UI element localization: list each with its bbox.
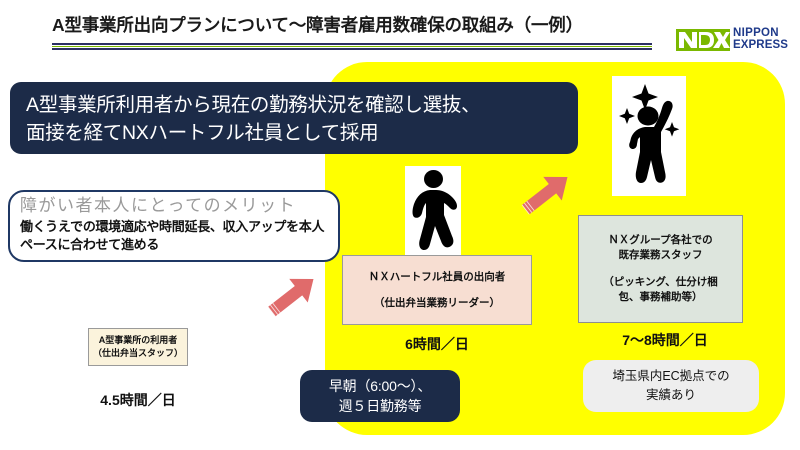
record-note-line-1: 埼玉県内EC拠点での xyxy=(612,367,729,386)
merit-body-line-1: 働くうえでの環境適応や時間延長、収入アップを本人 xyxy=(20,218,330,236)
stage3-line-4: 包、事務補助等） xyxy=(603,290,717,305)
stage1-line-2: （仕出弁当スタッフ） xyxy=(93,347,183,360)
banner-line-1: A型事業所利用者から現在の勤務状況を確認し選抜、 xyxy=(26,91,562,119)
arrow-stage1-to-stage2-icon xyxy=(262,272,324,323)
stage3-group-2: （ピッキング、仕分け梱 包、事務補助等） xyxy=(603,275,717,305)
stage1-label-box: A型事業所の利用者 （仕出弁当スタッフ） xyxy=(88,328,188,366)
stage1-line-1: A型事業所の利用者 xyxy=(99,334,178,347)
logo-line-express: EXPRESS xyxy=(733,40,788,52)
stage3-hours: 7～8時間／日 xyxy=(610,330,720,350)
merit-box: 障がい者本人にとってのメリット 働くうえでの環境適応や時間延長、収入アップを本人… xyxy=(8,190,340,262)
stage3-line-3: （ピッキング、仕分け梱 xyxy=(603,275,717,290)
schedule-note-line-2: 週５日勤務等 xyxy=(339,396,422,416)
stage2-label-box: ＮＸハートフル社員の出向者 （仕出弁当業務リーダー） xyxy=(342,255,532,325)
slide-canvas: A型事業所出向プランについて～障害者雇用数確保の取組み（一例） NIPPON E… xyxy=(0,0,800,450)
divider-line-navy-bottom xyxy=(52,48,652,50)
walking-person-icon xyxy=(405,166,461,260)
stage1-hours: 4.5時間／日 xyxy=(88,390,188,410)
stage3-group-1: ＮＸグループ各社での 既存業務スタッフ xyxy=(608,233,712,263)
arrow-stage2-to-stage3-icon xyxy=(516,170,578,221)
merit-heading: 障がい者本人にとってのメリット xyxy=(20,195,330,217)
nippon-express-logo: NIPPON EXPRESS xyxy=(676,28,788,51)
banner-line-2: 面接を経てNXハートフル社員として採用 xyxy=(26,119,562,147)
stage2-hours: 6時間／日 xyxy=(392,334,482,354)
celebrating-person-icon xyxy=(612,76,686,196)
stage3-line-1: ＮＸグループ各社での xyxy=(608,233,712,248)
logo-wordmark: NIPPON EXPRESS xyxy=(733,28,788,51)
record-note-pill: 埼玉県内EC拠点での 実績あり xyxy=(583,360,759,412)
page-title: A型事業所出向プランについて～障害者雇用数確保の取組み（一例） xyxy=(52,12,583,37)
merit-body: 働くうえでの環境適応や時間延長、収入アップを本人 ペースに合わせて進める xyxy=(20,218,330,253)
stage2-line-2: （仕出弁当業務リーダー） xyxy=(374,295,500,312)
header-divider xyxy=(52,43,652,50)
nx-logo-mark-icon xyxy=(676,29,730,51)
banner-callout: A型事業所利用者から現在の勤務状況を確認し選抜、 面接を経てNXハートフル社員と… xyxy=(10,82,578,154)
schedule-note-pill: 早朝（6:00～）、 週５日勤務等 xyxy=(300,370,460,422)
schedule-note-line-1: 早朝（6:00～）、 xyxy=(329,376,431,396)
merit-body-line-2: ペースに合わせて進める xyxy=(20,236,330,254)
stage3-label-box: ＮＸグループ各社での 既存業務スタッフ （ピッキング、仕分け梱 包、事務補助等） xyxy=(578,215,743,323)
stage3-line-2: 既存業務スタッフ xyxy=(608,248,712,263)
stage2-line-1: ＮＸハートフル社員の出向者 xyxy=(369,269,506,286)
logo-line-nippon: NIPPON xyxy=(733,28,788,40)
record-note-line-2: 実績あり xyxy=(646,386,696,405)
